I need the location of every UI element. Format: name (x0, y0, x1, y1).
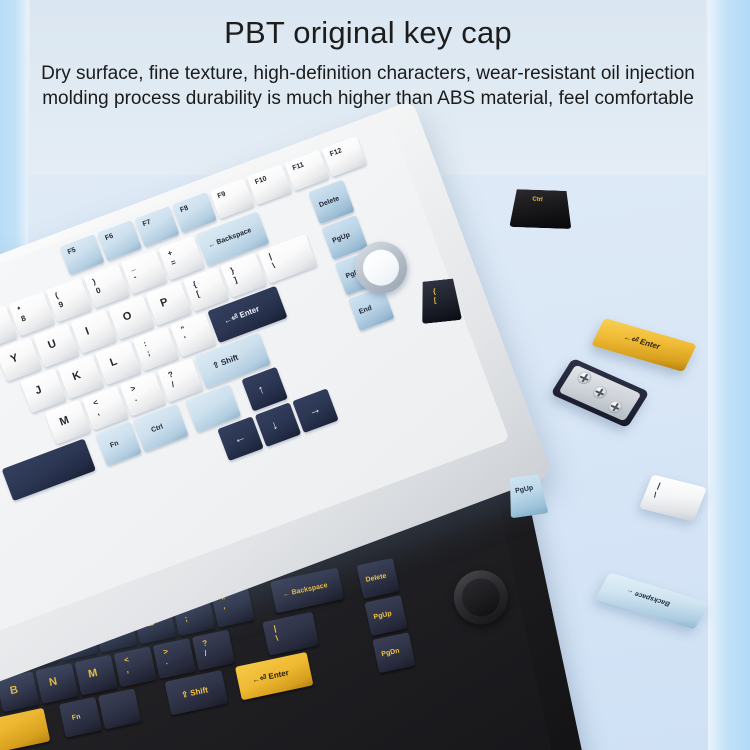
keycap-legend: ⇧ Shift (181, 686, 209, 699)
keycap-legend: O (122, 310, 134, 323)
keycap-legend: Fn (71, 713, 81, 722)
page-title: PBT original key cap (28, 16, 708, 51)
keycap-legend: Ctrl (532, 197, 543, 204)
keycap-legend-secondary: 9 (58, 301, 65, 310)
keycap-legend: > (163, 648, 169, 657)
keycap-legend: < (123, 656, 129, 665)
pgup-keycap: PgUp (505, 474, 548, 519)
keycap-legend: | (268, 253, 273, 261)
keycap-legend: } (229, 267, 235, 276)
ctrl-keycap: Ctrl (509, 189, 572, 229)
bracket-keycap: { [ (418, 278, 462, 324)
keycap-legend: F6 (104, 233, 114, 242)
keycap-legend: ) (92, 278, 97, 286)
keycap-legend: Y (9, 353, 20, 366)
keycap-legend: ←⏎ Enter (223, 305, 261, 326)
keycap-legend: { (192, 281, 198, 290)
keycap-legend-secondary: 8 (20, 315, 27, 324)
keycap-legend: PgDn (381, 648, 400, 659)
background-edge-band-right (708, 0, 750, 750)
keycap-legend: ? (202, 639, 208, 648)
keycap-legend: N (48, 676, 58, 688)
keycap-legend: ? (167, 371, 174, 380)
keycap-body (505, 474, 548, 519)
keycap-legend: J (34, 385, 44, 397)
keycap-legend-secondary: , (126, 666, 130, 674)
keycap-legend: P (159, 297, 170, 310)
keycap-legend-secondary: ] (233, 276, 238, 284)
keycap-legend: PgUp (373, 610, 392, 621)
keycap-legend-secondary: ' (184, 336, 189, 344)
keycap-legend-top: { (433, 288, 436, 295)
keycap-legend-secondary: 0 (95, 287, 102, 296)
keycap-legend: L (109, 356, 119, 369)
keycap-legend: ⇧ Shift (212, 354, 240, 371)
keycap-legend: K (71, 370, 82, 383)
keycap-legend: F12 (329, 147, 343, 158)
header: PBT original key cap Dry surface, fine t… (28, 16, 708, 111)
keycap-legend: F5 (67, 247, 77, 256)
knob-cap (358, 245, 404, 291)
keycap-legend-secondary: ; (184, 615, 188, 623)
keycap-legend: ↓ (269, 418, 279, 431)
keycap-legend-secondary: = (170, 258, 177, 267)
keycap-legend: M (87, 668, 98, 681)
keycap-legend-secondary: , (96, 409, 101, 417)
knob-cap (458, 575, 503, 620)
keycap-legend-secondary: \ (271, 262, 276, 270)
keycap-legend-secondary: . (165, 658, 169, 666)
keycap-legend: Fn (109, 440, 119, 450)
keycap-legend-secondary: [ (195, 290, 200, 298)
keycap-legend: PgUp (332, 232, 352, 245)
keycap-legend: : (143, 340, 148, 348)
keycap-legend: F8 (179, 205, 189, 214)
keycap-legend: < (92, 399, 99, 408)
keycap-legend: F9 (217, 191, 227, 200)
keycap-legend: I (84, 326, 91, 337)
keycap-legend: → (307, 402, 322, 417)
keycap-legend-secondary: ; (146, 349, 151, 357)
page-subtitle: Dry surface, fine texture, high-definiti… (28, 61, 708, 112)
keycap-legend: End (358, 305, 373, 316)
keycap-legend: U (47, 339, 58, 352)
keycap-legend: _ (129, 263, 136, 272)
keycap-legend: F11 (292, 161, 305, 172)
keycap-body (418, 278, 462, 324)
keycap-legend: Delete (365, 573, 387, 584)
keycap-legend: | (273, 625, 277, 633)
keycap-legend-secondary: . (133, 395, 138, 403)
keycap-legend-secondary: ' (223, 607, 227, 615)
keycap-legend: F10 (254, 175, 268, 186)
product-image-canvas: F5F6F7F8F9F10F11F12&7*8(9)0_-+=← Backspa… (0, 0, 750, 750)
keycap-body (509, 189, 572, 229)
keycap-legend: ← Backspace (207, 227, 252, 250)
keycap-legend: Delete (318, 195, 340, 209)
keycap-legend: ↑ (256, 383, 266, 396)
keycap-legend: Ctrl (150, 423, 164, 434)
keycap-legend: ← (232, 430, 247, 445)
keycap-legend: ←⏎ Enter (251, 669, 289, 685)
keycap-legend-secondary: \ (275, 635, 279, 643)
keycap-legend: F7 (142, 219, 152, 228)
keycap-legend-secondary: / (204, 650, 208, 658)
keycap-legend: > (130, 385, 137, 394)
keycap-legend: ← Backspace (282, 582, 328, 598)
keycap-legend-secondary: / (171, 381, 176, 389)
keycap-legend-secondary: - (133, 273, 138, 281)
keycap-legend: * (17, 306, 23, 315)
keycap-legend: " (180, 325, 186, 334)
keycap-legend: ( (54, 292, 59, 300)
keycap-legend: M (58, 415, 70, 429)
keycap-legend: B (9, 685, 19, 697)
